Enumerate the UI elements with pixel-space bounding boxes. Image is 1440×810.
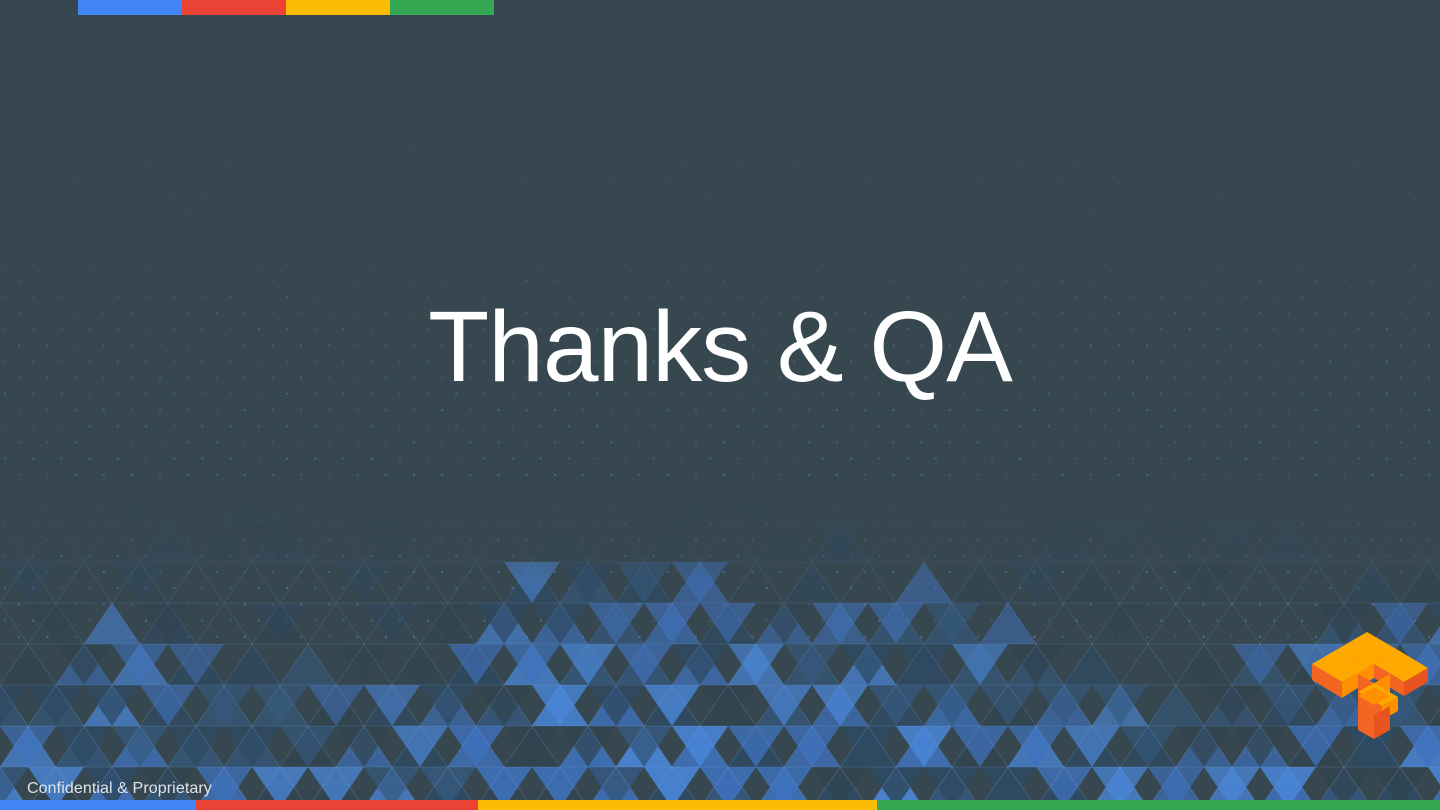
isometric-mosaic-pattern bbox=[0, 480, 1440, 810]
top-bar-segment-green bbox=[390, 0, 494, 15]
top-bar-segment-red bbox=[182, 0, 286, 15]
presentation-slide: Thanks & QA Confidential & Proprietary bbox=[0, 0, 1440, 810]
bottom-bar-segment-yellow bbox=[478, 800, 877, 810]
bottom-bar-segment-red bbox=[196, 800, 478, 810]
top-bar-segment-yellow bbox=[286, 0, 390, 15]
top-bar-segment-blue bbox=[78, 0, 182, 15]
bottom-bar-segment-green bbox=[877, 800, 1440, 810]
bottom-accent-bar bbox=[0, 800, 1440, 810]
top-accent-bar bbox=[78, 0, 494, 15]
tensorflow-logo bbox=[1312, 626, 1432, 746]
bottom-bar-segment-blue bbox=[0, 800, 196, 810]
footer-confidentiality-notice: Confidential & Proprietary bbox=[27, 780, 212, 798]
slide-title: Thanks & QA bbox=[0, 288, 1440, 406]
